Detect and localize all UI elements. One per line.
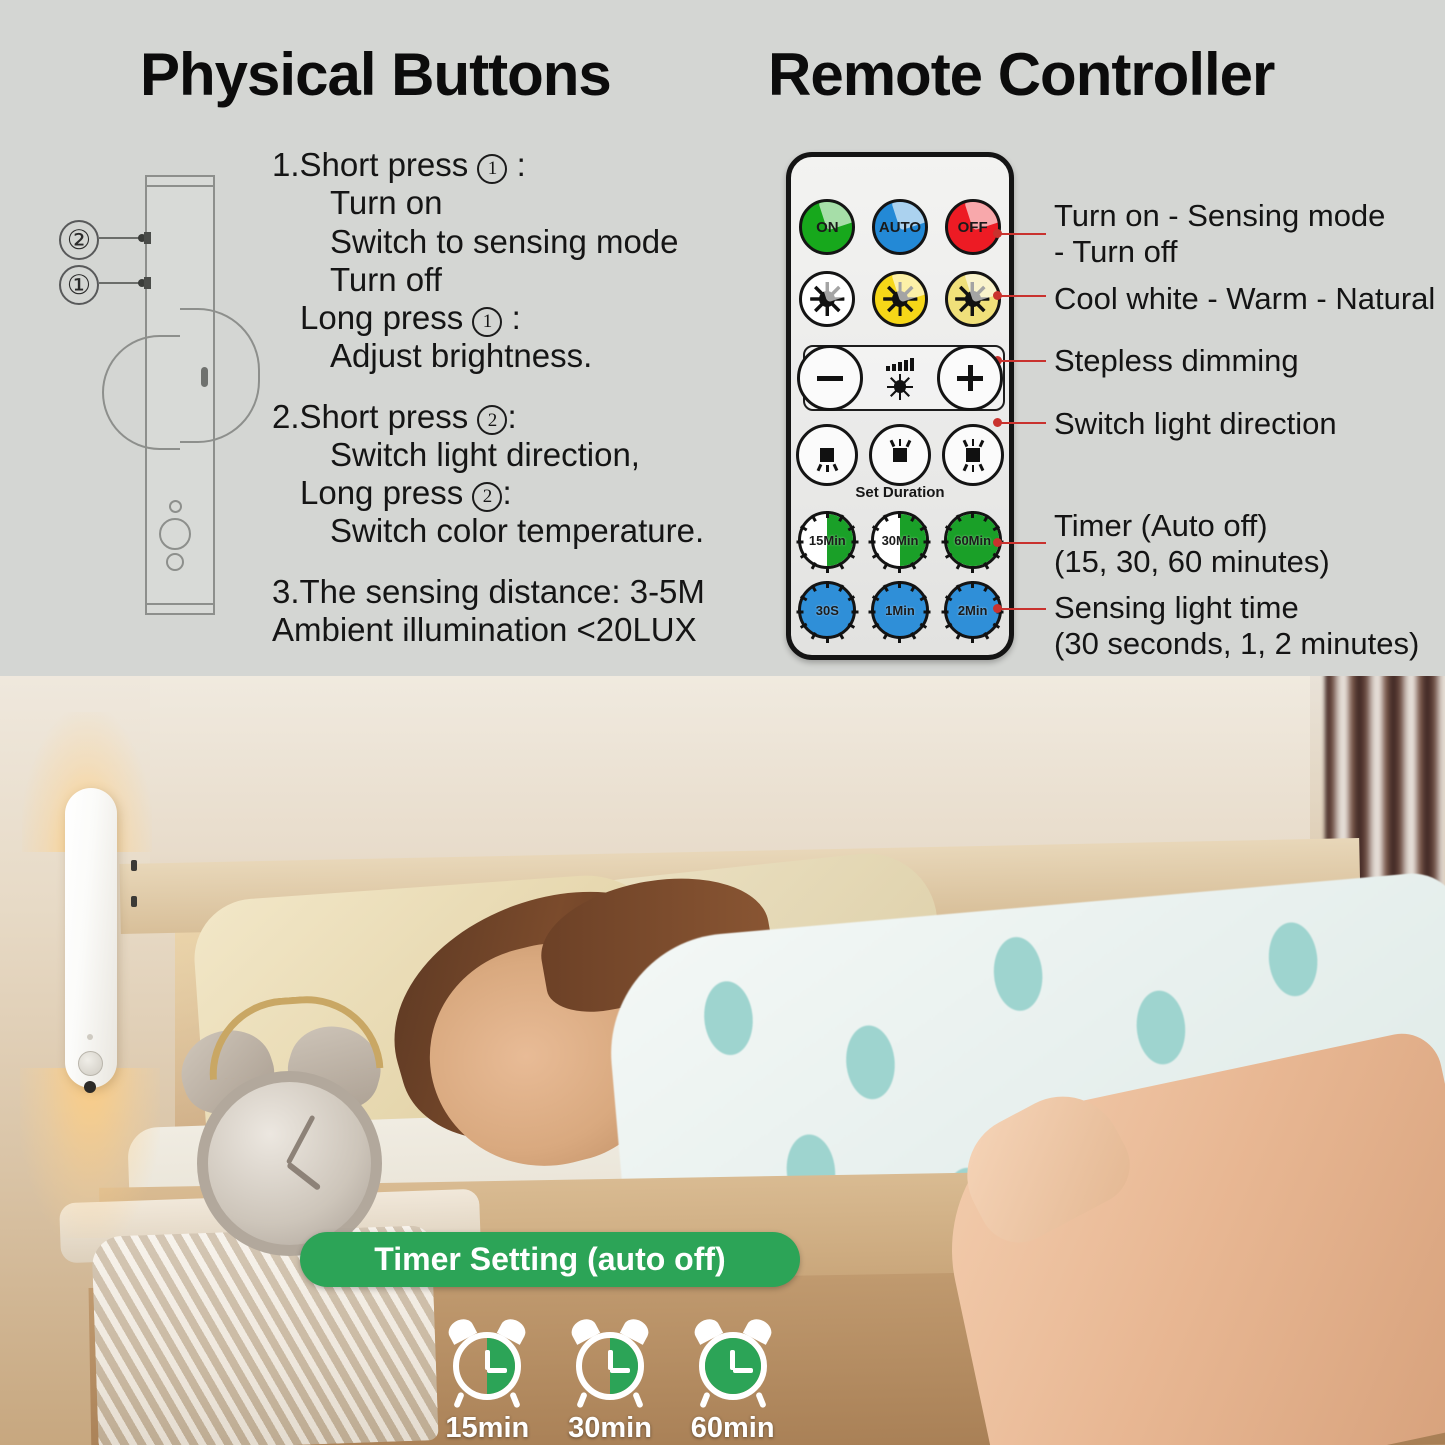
- photo-alarm-clock: [185, 1021, 395, 1246]
- clock-hour-hand-icon: [733, 1368, 753, 1373]
- annotation-light-direction: Switch light direction: [1054, 406, 1337, 442]
- physical-button-1[interactable]: [144, 277, 151, 289]
- photo-lamp-button-1: [131, 896, 137, 907]
- remote-row-power: ON AUTO OFF: [791, 197, 1009, 257]
- timer-icon-30min: 30min: [563, 1320, 658, 1445]
- clock-minute-hand-icon: [608, 1350, 613, 1370]
- instruction-2-sub-heading: Long press 2:: [272, 474, 752, 512]
- timer-label-30min: 30min: [568, 1412, 652, 1445]
- annotation-sensing-time-line2: (30 seconds, 1, 2 minutes): [1054, 626, 1419, 662]
- callout-badge-2: ②: [59, 220, 99, 260]
- clock-foot-left-icon: [454, 1391, 466, 1408]
- annotation-timer-line1: Timer (Auto off): [1054, 508, 1330, 544]
- photo-lamp-indicator-icon: [87, 1034, 93, 1040]
- remote-button-dim-up[interactable]: [937, 345, 1003, 411]
- remote-row-color-temperature: [791, 269, 1009, 329]
- remote-button-warm[interactable]: [872, 271, 928, 327]
- annotation-power-line2: - Turn off: [1054, 234, 1385, 270]
- light-sensor-icon: [166, 553, 184, 571]
- photo-lamp-led-icon: [84, 1081, 96, 1093]
- timer-label-15min: 15min: [445, 1412, 529, 1445]
- instruction-2-colon: :: [507, 398, 516, 435]
- remote-controller-diagram: ON AUTO OFF: [786, 152, 1014, 660]
- pointer-line-2: [1000, 295, 1046, 297]
- pointer-line-6: [1000, 608, 1046, 610]
- annotation-sensing-time: Sensing light time (30 seconds, 1, 2 min…: [1054, 590, 1419, 662]
- device-cap-top: [145, 175, 215, 187]
- clock-minute-hand-icon: [485, 1350, 490, 1370]
- sun-icon: [883, 282, 917, 316]
- remote-button-direction-down[interactable]: [796, 424, 858, 486]
- remote-row-sensing-time: 30S 1Min 2Min: [791, 579, 1009, 641]
- instruction-1-colon: :: [507, 146, 525, 183]
- brightness-sun-icon: [887, 374, 913, 400]
- clock-fill: [487, 1338, 515, 1394]
- clock-foot-right-icon: [510, 1391, 522, 1408]
- light-direction-up-icon: [885, 440, 915, 470]
- timer-label-60min: 60min: [691, 1412, 775, 1445]
- annotation-color-temperature: Cool white - Warm - Natural: [1054, 281, 1435, 317]
- magnet-mount-left: [102, 335, 180, 450]
- annotation-sensing-time-line1: Sensing light time: [1054, 590, 1419, 626]
- instruction-1-line-2: Switch to sensing mode: [272, 223, 752, 261]
- badge-2-icon-long: 2: [472, 482, 502, 512]
- annotation-timer-line2: (15, 30, 60 minutes): [1054, 544, 1330, 580]
- clock-dial: [453, 1332, 521, 1400]
- alarm-clock-icon: [446, 1320, 528, 1408]
- remote-row-dimming: [791, 337, 1009, 419]
- remote-button-cool-white[interactable]: [799, 271, 855, 327]
- clock-hour-hand-icon: [610, 1368, 630, 1373]
- annotation-dimming-line1: Stepless dimming: [1054, 343, 1299, 379]
- photo-lamp-glow-lower: [20, 1068, 160, 1238]
- remote-button-direction-both[interactable]: [942, 424, 1004, 486]
- badge-2-icon: 2: [477, 405, 507, 435]
- instruction-2-sub-colon: :: [502, 474, 511, 511]
- sun-icon: [956, 282, 990, 316]
- instruction-1-sub-heading-text: Long press: [300, 299, 463, 336]
- remote-button-off[interactable]: OFF: [945, 199, 1001, 255]
- timer-icon-60min: 60min: [685, 1320, 780, 1445]
- instruction-2-heading-text: 2.Short press: [272, 398, 468, 435]
- page-title-remote-controller: Remote Controller: [768, 40, 1274, 109]
- set-duration-label: Set Duration: [791, 484, 1009, 501]
- clock-dial: [576, 1332, 644, 1400]
- dimming-level-indicator: [875, 350, 925, 406]
- badge-1-icon-long: 1: [472, 307, 502, 337]
- instruction-1-line-3: Turn off: [272, 261, 752, 299]
- remote-button-timer-15min[interactable]: 15Min: [798, 511, 856, 569]
- clock-dial: [699, 1332, 767, 1400]
- instruction-1-heading: 1.Short press 1 :: [272, 146, 752, 184]
- remote-button-sensing-30s[interactable]: 30S: [798, 581, 856, 639]
- minus-icon: [817, 376, 843, 381]
- timer-icon-15min: 15min: [440, 1320, 535, 1445]
- remote-button-direction-up[interactable]: [869, 424, 931, 486]
- instruction-2-sub-heading-text: Long press: [300, 474, 463, 511]
- annotation-color-temperature-line1: Cool white - Warm - Natural: [1054, 281, 1435, 317]
- remote-button-auto[interactable]: AUTO: [872, 199, 928, 255]
- instruction-item-2: 2.Short press 2: Switch light direction,…: [272, 398, 752, 551]
- instruction-panel: Physical Buttons Remote Controller ② ①: [0, 0, 1445, 690]
- instruction-1-sub-heading: Long press 1 :: [272, 299, 752, 337]
- clock-fill: [610, 1338, 638, 1394]
- magnet-mount-right: [180, 308, 260, 443]
- remote-button-timer-30min[interactable]: 30Min: [871, 511, 929, 569]
- annotation-timer: Timer (Auto off) (15, 30, 60 minutes): [1054, 508, 1330, 580]
- instruction-1-sub-colon: :: [502, 299, 520, 336]
- instruction-item-1: 1.Short press 1 : Turn on Switch to sens…: [272, 146, 752, 376]
- clock-minute-hand-icon: [730, 1350, 735, 1370]
- clock-foot-right-icon: [755, 1391, 767, 1408]
- pointer-line-3: [1000, 360, 1046, 362]
- badge-1-icon: 1: [477, 154, 507, 184]
- light-direction-both-icon: [958, 440, 988, 470]
- remote-row-timer: 15Min 30Min 60Min: [791, 509, 1009, 571]
- light-direction-down-icon: [812, 440, 842, 470]
- mount-pin: [201, 367, 208, 387]
- page-title-physical-buttons: Physical Buttons: [140, 40, 611, 109]
- instruction-1-sub-line-1: Adjust brightness.: [272, 337, 752, 375]
- remote-button-on[interactable]: ON: [799, 199, 855, 255]
- instruction-1-heading-text: 1.Short press: [272, 146, 468, 183]
- clock-foot-left-icon: [699, 1391, 711, 1408]
- remote-button-natural[interactable]: [945, 271, 1001, 327]
- pointer-line-5: [1000, 542, 1046, 544]
- alarm-clock-icon: [692, 1320, 774, 1408]
- instruction-text-block: 1.Short press 1 : Turn on Switch to sens…: [272, 146, 752, 671]
- physical-button-2[interactable]: [144, 232, 151, 244]
- photo-lamp-motion-sensor-icon: [78, 1051, 103, 1076]
- clock-foot-left-icon: [576, 1391, 588, 1408]
- instruction-2-sub-line-1: Switch color temperature.: [272, 512, 752, 550]
- timer-icon-row: 15min 30min: [440, 1320, 780, 1445]
- photo-motion-sensor-light: [65, 788, 117, 1088]
- device-diagram: ② ①: [45, 160, 285, 630]
- instruction-2-heading: 2.Short press 2:: [272, 398, 752, 436]
- product-infographic: Physical Buttons Remote Controller ② ①: [0, 0, 1445, 1445]
- alarm-clock-icon: [569, 1320, 651, 1408]
- indicator-dot-icon: [169, 500, 182, 513]
- annotation-dimming: Stepless dimming: [1054, 343, 1299, 379]
- instruction-1-line-1: Turn on: [272, 184, 752, 222]
- remote-row-light-direction: [791, 425, 1009, 485]
- instruction-2-line-1: Switch light direction,: [272, 436, 752, 474]
- pointer-line-1: [1000, 233, 1046, 235]
- instruction-3-line-2: Ambient illumination <20LUX: [272, 611, 752, 649]
- remote-button-dim-down[interactable]: [797, 345, 863, 411]
- timer-setting-banner: Timer Setting (auto off): [300, 1232, 800, 1287]
- instruction-3-line-1: 3.The sensing distance: 3-5M: [272, 573, 752, 611]
- annotation-power-line1: Turn on - Sensing mode: [1054, 198, 1385, 234]
- clock-hour-hand-icon: [487, 1368, 507, 1373]
- callout-badge-1: ①: [59, 265, 99, 305]
- pointer-line-4: [1000, 422, 1046, 424]
- remote-button-sensing-1min[interactable]: 1Min: [871, 581, 929, 639]
- annotation-light-direction-line1: Switch light direction: [1054, 406, 1337, 442]
- photo-lamp-button-2: [131, 860, 137, 871]
- sun-icon: [810, 282, 844, 316]
- annotation-power: Turn on - Sensing mode - Turn off: [1054, 198, 1385, 270]
- motion-sensor-icon: [159, 518, 191, 550]
- clock-foot-right-icon: [632, 1391, 644, 1408]
- dim-level-bars-icon: [886, 357, 914, 371]
- instruction-item-3: 3.The sensing distance: 3-5M Ambient ill…: [272, 573, 752, 650]
- device-cap-bottom: [145, 603, 215, 615]
